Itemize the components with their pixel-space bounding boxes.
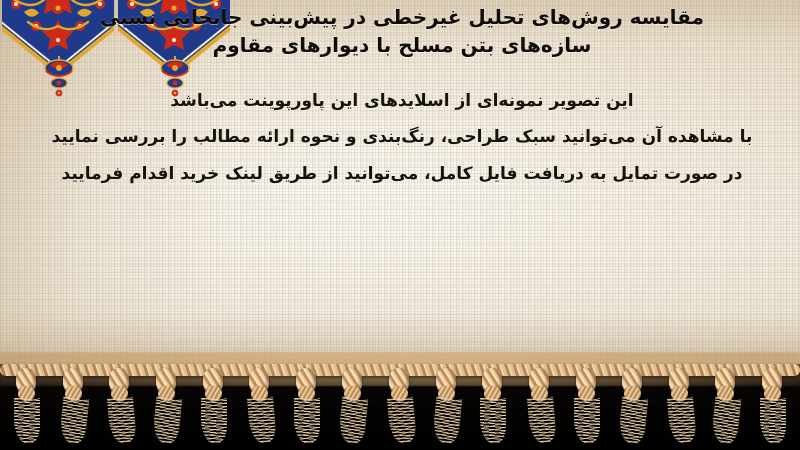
carpet-fringe-row bbox=[0, 366, 800, 450]
tassel-strands bbox=[387, 397, 417, 445]
tassel-strands bbox=[527, 397, 557, 445]
slide-body: این تصویر نمونه‌ای از اسلایدهای این پاور… bbox=[18, 90, 786, 186]
tassel-strands bbox=[760, 398, 786, 444]
tassel-strands bbox=[480, 398, 506, 444]
carpet-tassel bbox=[517, 366, 563, 446]
slide-canvas: مقایسه روش‌های تحلیل غیرخطی در پیش‌بینی … bbox=[0, 0, 800, 450]
carpet-tassel bbox=[377, 366, 423, 446]
slide-title: مقایسه روش‌های تحلیل غیرخطی در پیش‌بینی … bbox=[18, 0, 786, 60]
slide-title-line-1: مقایسه روش‌های تحلیل غیرخطی در پیش‌بینی … bbox=[18, 3, 786, 31]
carpet-tassel bbox=[144, 366, 190, 446]
slide-body-line-3: در صورت تمایل به دریافت فایل کامل، می‌تو… bbox=[18, 163, 786, 186]
tassel-strands bbox=[58, 397, 89, 445]
carpet-tassel bbox=[330, 366, 376, 446]
carpet-tassel bbox=[564, 366, 610, 446]
slide-body-line-1: این تصویر نمونه‌ای از اسلایدهای این پاور… bbox=[18, 90, 786, 113]
carpet-tassel bbox=[750, 366, 796, 446]
tassel-strands bbox=[574, 398, 600, 444]
tassel-strands bbox=[711, 397, 742, 445]
carpet-tassel bbox=[51, 366, 97, 446]
carpet-tassel bbox=[284, 366, 330, 446]
tassel-strands bbox=[152, 397, 183, 445]
carpet-tassel bbox=[237, 366, 283, 446]
tassel-strands bbox=[294, 398, 320, 444]
tassel-strands bbox=[14, 398, 40, 444]
tassel-strands bbox=[338, 397, 369, 445]
carpet-tassel bbox=[4, 366, 50, 446]
tassel-strands bbox=[107, 397, 137, 445]
tassel-strands bbox=[667, 397, 697, 445]
carpet-tassel bbox=[191, 366, 237, 446]
tassel-strands bbox=[431, 397, 462, 445]
tassel-strands bbox=[201, 398, 227, 444]
tassel-strands bbox=[247, 397, 277, 445]
slide-text-layer: مقایسه روش‌های تحلیل غیرخطی در پیش‌بینی … bbox=[0, 0, 800, 378]
slide-title-line-2: سازه‌های بتن مسلح با دیوارهای مقاوم bbox=[18, 31, 786, 59]
carpet-tassel bbox=[424, 366, 470, 446]
carpet-tassel bbox=[703, 366, 749, 446]
slide-body-line-2: با مشاهده آن می‌توانید سبک طراحی، رنگ‌بن… bbox=[18, 126, 786, 149]
carpet-tassel bbox=[610, 366, 656, 446]
carpet-tassel bbox=[470, 366, 516, 446]
carpet-tassel bbox=[657, 366, 703, 446]
tassel-strands bbox=[618, 397, 649, 445]
carpet-tassel bbox=[97, 366, 143, 446]
